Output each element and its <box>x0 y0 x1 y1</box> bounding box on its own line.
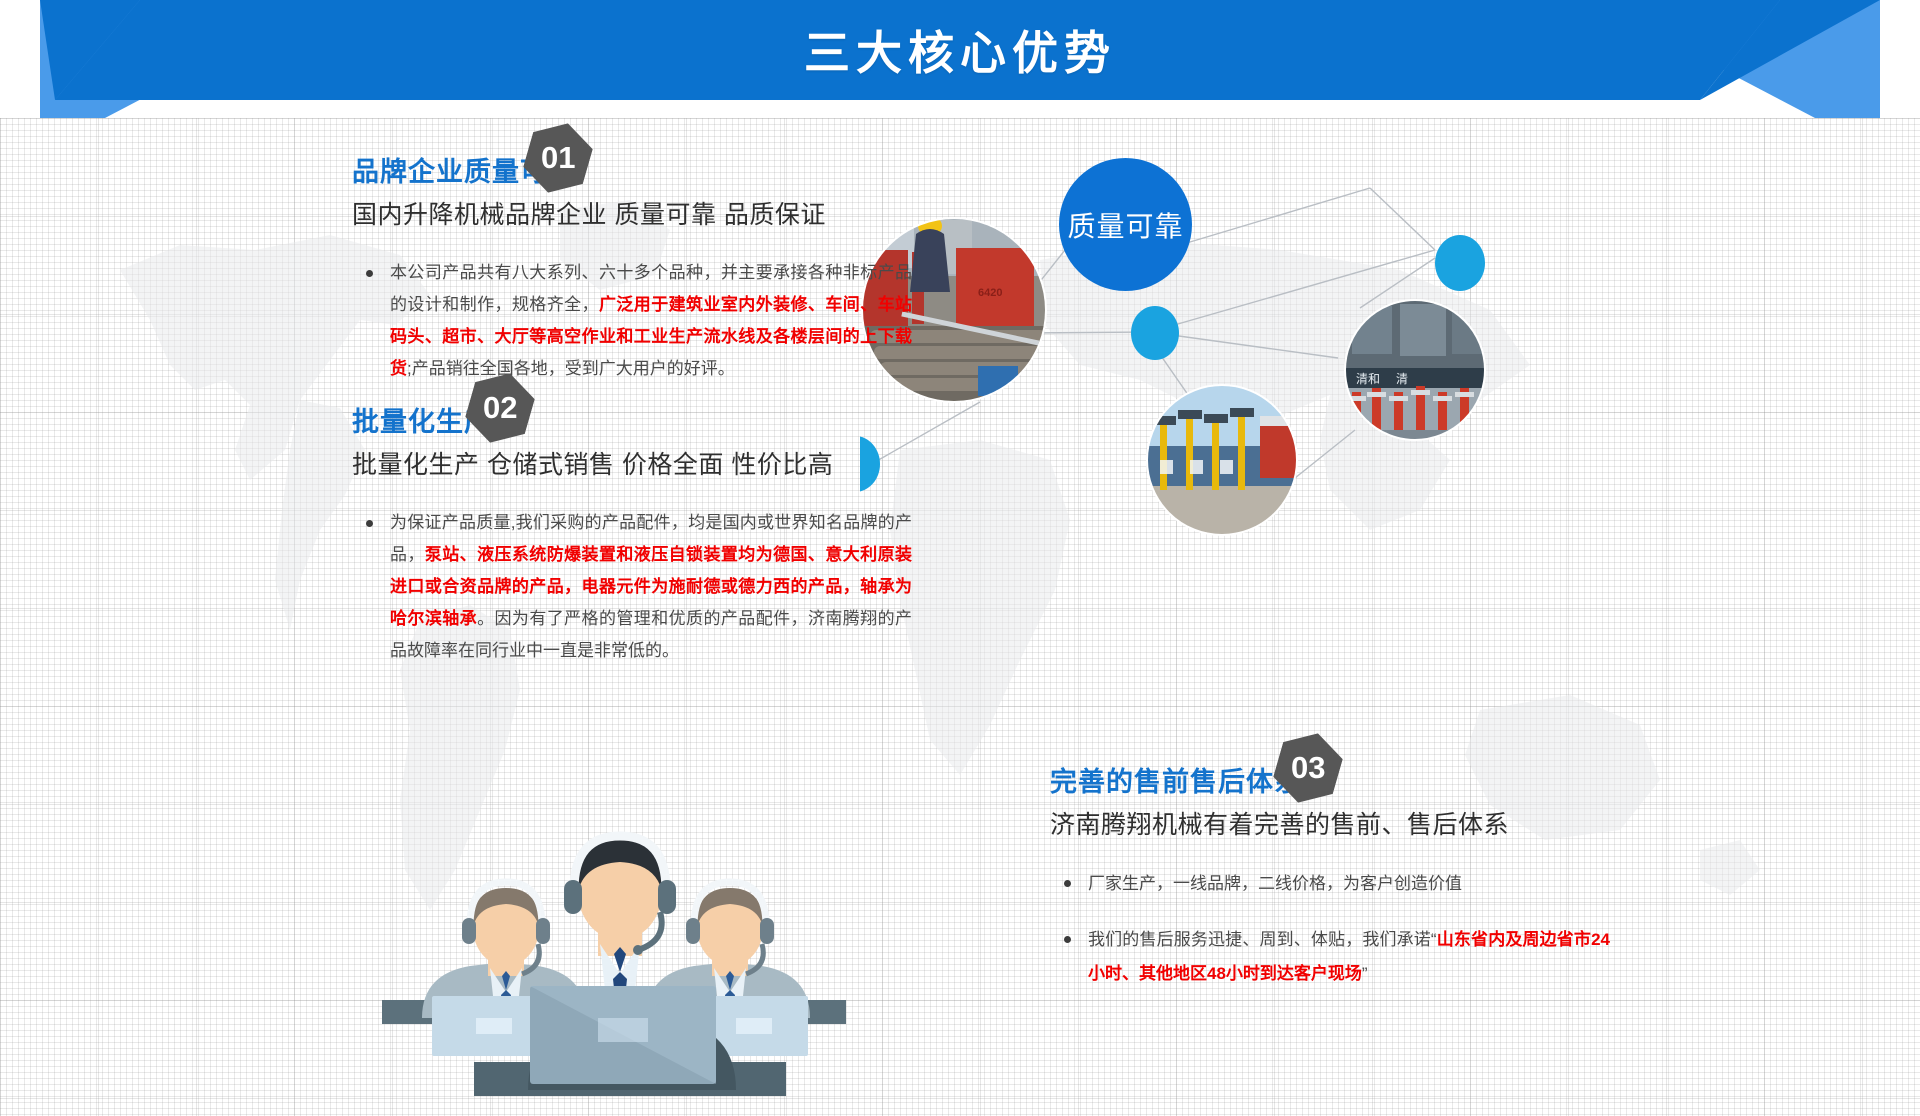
body-text: 我们的售后服务迅捷、周到、体贴，我们承诺“ <box>1088 930 1437 949</box>
section-01-number-badge: 01 <box>513 113 602 202</box>
network-center-node: 质量可靠 <box>1059 158 1192 291</box>
agent-center <box>528 836 736 1090</box>
section-01-subtitle: 国内升降机械品牌企业 质量可靠 品质保证 <box>352 195 912 231</box>
section-03: 完善的售前售后体系 03 济南腾翔机械有着完善的售前、售后体系 厂家生产，一线品… <box>1050 760 1610 991</box>
right-content-column: 完善的售前售后体系 03 济南腾翔机械有着完善的售前、售后体系 厂家生产，一线品… <box>1050 760 1610 1013</box>
section-03-bullet-list: 厂家生产，一线品牌，二线价格，为客户创造价值 我们的售后服务迅捷、周到、体贴，我… <box>1050 867 1610 991</box>
network-diagram: 6420 <box>860 130 1920 600</box>
section-03-subtitle: 济南腾翔机械有着完善的售前、售后体系 <box>1050 805 1610 841</box>
list-item: 厂家生产，一线品牌，二线价格，为客户创造价值 <box>1050 867 1610 901</box>
body-text: ;产品销往全国各地，受到广大用户的好评。 <box>407 359 735 378</box>
section-02: 批量化生产 02 批量化生产 仓储式销售 价格全面 性价比高 为保证产品质量,我… <box>352 400 912 683</box>
network-center-label: 质量可靠 <box>1067 205 1183 245</box>
section-01-bullet-list: 本公司产品共有八大系列、六十多个品种，并主要承接各种非标产品的设计和制作，规格齐… <box>352 257 912 385</box>
aerial-work-platforms-photo <box>1147 385 1297 535</box>
call-center-agents-illustration <box>370 800 870 1116</box>
section-03-header: 完善的售前售后体系 03 <box>1050 760 1610 799</box>
section-02-bullet-list: 为保证产品质量,我们采购的产品配件，均是国内或世界知名品牌的产品，泵站、液压系统… <box>352 507 912 667</box>
section-02-number: 02 <box>483 390 517 426</box>
lift-equipment-storefront-photo: 清和 清 <box>1345 300 1485 440</box>
svg-text:6420: 6420 <box>978 287 1002 299</box>
section-02-subtitle: 批量化生产 仓储式销售 价格全面 性价比高 <box>352 445 912 481</box>
list-item: 我们的售后服务迅捷、周到、体贴，我们承诺“山东省内及周边省市24小时、其他地区4… <box>1050 923 1610 991</box>
svg-text:清和: 清和 <box>1356 372 1380 386</box>
node-dot-center <box>1131 306 1179 360</box>
svg-text:清: 清 <box>1396 372 1408 386</box>
section-01-number: 01 <box>541 140 575 176</box>
section-01: 品牌企业质量可靠 01 国内升降机械品牌企业 质量可靠 品质保证 本公司产品共有… <box>352 150 912 401</box>
node-dot-top-right <box>1435 235 1485 291</box>
list-item: 为保证产品质量,我们采购的产品配件，均是国内或世界知名品牌的产品，泵站、液压系统… <box>352 507 912 667</box>
section-03-title: 完善的售前售后体系 <box>1050 760 1302 799</box>
section-03-number-badge: 03 <box>1263 723 1352 812</box>
body-text: 厂家生产，一线品牌，二线价格，为客户创造价值 <box>1088 874 1462 893</box>
section-03-number: 03 <box>1291 750 1325 786</box>
section-02-header: 批量化生产 02 <box>352 400 912 439</box>
list-item: 本公司产品共有八大系列、六十多个品种，并主要承接各种非标产品的设计和制作，规格齐… <box>352 257 912 385</box>
body-text: ” <box>1362 964 1368 983</box>
section-01-header: 品牌企业质量可靠 01 <box>352 150 912 189</box>
page-title: 三大核心优势 <box>0 0 1920 100</box>
